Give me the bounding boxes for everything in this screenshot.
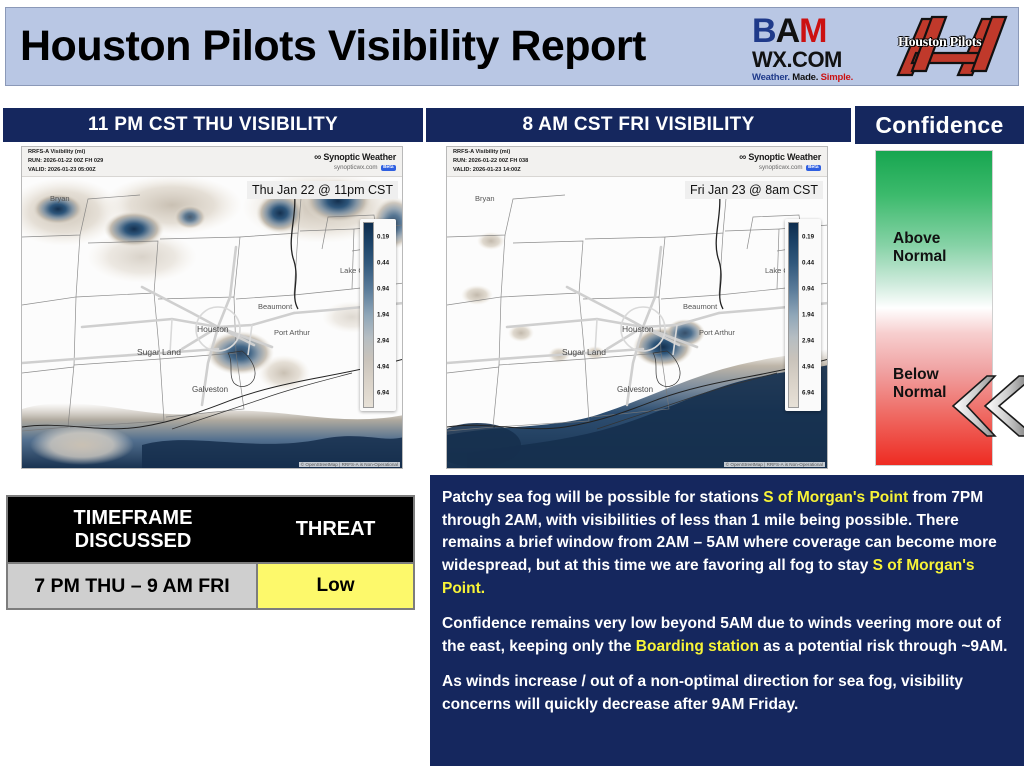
logo-group: B A M WX.COM Weather. Made. Simple.	[752, 13, 1018, 81]
cell-threat-value: Low	[258, 562, 413, 608]
map2-colorbar-gradient	[788, 222, 799, 408]
map2-time-badge: Fri Jan 23 @ 8am CST	[685, 181, 823, 199]
cbar2-tick-1: 0.44	[802, 259, 814, 266]
cbar-tick-4: 2.94	[377, 338, 389, 345]
below-normal-line1: Below	[893, 366, 946, 384]
map2-metadata: RRFS-A Visibility (mi) RUN: 2026-01-22 0…	[453, 148, 528, 176]
infinity-icon: ∞	[314, 152, 321, 163]
map1-beta-badge: Beta	[381, 165, 396, 171]
timeframe-header-line2: DISCUSSED	[75, 530, 192, 552]
city-label-bryan: Bryan	[50, 194, 70, 203]
map-panel-friday[interactable]: RRFS-A Visibility (mi) RUN: 2026-01-22 0…	[446, 146, 828, 469]
report-title-bar: Houston Pilots Visibility Report B A M W…	[5, 7, 1019, 86]
cbar-tick-2: 0.94	[377, 285, 389, 292]
map2-beta-badge: Beta	[806, 165, 821, 171]
double-chevron-left-icon	[951, 374, 1024, 438]
map1-metadata: RRFS-A Visibility (mi) RUN: 2026-01-22 0…	[28, 148, 103, 176]
map-panel-thursday[interactable]: RRFS-A Visibility (mi) RUN: 2026-01-22 0…	[21, 146, 403, 469]
timeframe-threat-table: TIMEFRAME DISCUSSED THREAT 7 PM THU – 9 …	[6, 495, 415, 610]
map1-header: RRFS-A Visibility (mi) RUN: 2026-01-22 0…	[22, 147, 402, 177]
confidence-indicator-arrow	[951, 374, 1024, 438]
houston-pilots-logo: Houston Pilots	[892, 13, 1010, 81]
bamwx-letter-a: A	[776, 14, 800, 48]
bamwx-tagline: Weather. Made. Simple.	[752, 73, 886, 83]
map1-run: RUN: 2026-01-22 00Z FH 029	[28, 157, 103, 166]
city-label-galveston: Galveston	[192, 385, 228, 394]
city-label-beaumont: Beaumont	[258, 302, 293, 311]
map1-provider-name: ∞ Synoptic Weather	[314, 152, 396, 163]
city-label-galveston: Galveston	[617, 385, 653, 394]
confidence-panel: Above Normal Below Normal	[855, 146, 1024, 471]
forecast-discussion-panel: Patchy sea fog will be possible for stat…	[430, 475, 1024, 766]
map1-canvas[interactable]: Bryan Houston Sugar Land Galveston Beaum…	[22, 177, 402, 469]
city-label-port-arthur: Port Arthur	[274, 328, 310, 337]
map2-graphic: Bryan Houston Sugar Land Galveston Beaum…	[447, 177, 827, 469]
cbar2-tick-5: 4.94	[802, 364, 814, 371]
houston-pilots-text: Houston Pilots	[898, 35, 981, 51]
cbar2-tick-0: 0.19	[802, 233, 814, 240]
p1-text-a: Patchy sea fog will be possible for stat…	[442, 489, 763, 506]
map2-attribution: © OpenStreetMap | RRFS-A is Non-Operatio…	[724, 462, 825, 467]
page-title: Houston Pilots Visibility Report	[20, 22, 646, 71]
map2-colorbar: 0.19 0.44 0.94 1.94 2.94 4.94 6.94	[785, 219, 821, 411]
map1-provider-link[interactable]: synopticwx.com	[334, 164, 378, 171]
cbar-tick-1: 0.44	[377, 259, 389, 266]
visibility-report-page: Houston Pilots Visibility Report B A M W…	[0, 0, 1024, 766]
cbar-tick-0: 0.19	[377, 233, 389, 240]
bamwx-domain: WX.COM	[752, 49, 886, 71]
cbar2-tick-2: 0.94	[802, 285, 814, 292]
band-thu-visibility: 11 PM CST THU VISIBILITY	[3, 108, 423, 142]
map1-colorbar-gradient	[363, 222, 374, 408]
map2-valid: VALID: 2026-01-23 14:00Z	[453, 166, 528, 175]
cbar-tick-3: 1.94	[377, 312, 389, 319]
city-label-beaumont: Beaumont	[683, 302, 718, 311]
map1-provider-label: Synoptic Weather	[323, 152, 396, 162]
column-header-timeframe: TIMEFRAME DISCUSSED	[8, 497, 258, 562]
infinity-icon: ∞	[739, 152, 746, 163]
map1-product: RRFS-A Visibility (mi)	[28, 148, 103, 157]
bamwx-wordmark: B A M	[752, 14, 886, 48]
bamwx-logo: B A M WX.COM Weather. Made. Simple.	[752, 14, 886, 80]
city-label-sugar-land: Sugar Land	[137, 347, 181, 357]
cbar2-tick-6: 6.94	[802, 390, 814, 397]
discussion-paragraph-3: As winds increase / out of a non-optimal…	[442, 671, 1010, 716]
tagline-made: Made.	[792, 72, 818, 83]
city-label-bryan: Bryan	[475, 194, 495, 203]
bamwx-letter-b: B	[752, 14, 776, 48]
p1-highlight-1: S of Morgan's Point	[763, 489, 908, 506]
discussion-paragraph-1: Patchy sea fog will be possible for stat…	[442, 487, 1010, 600]
band-confidence: Confidence	[855, 106, 1024, 144]
p2-text-b: as a potential risk through ~9AM.	[759, 638, 1007, 655]
cbar-tick-6: 6.94	[377, 390, 389, 397]
city-label-port-arthur: Port Arthur	[699, 328, 735, 337]
map1-colorbar-ticks: 0.19 0.44 0.94 1.94 2.94 4.94 6.94	[374, 222, 393, 408]
map1-time-badge: Thu Jan 22 @ 11pm CST	[247, 181, 398, 199]
table-header-row: TIMEFRAME DISCUSSED THREAT	[8, 497, 413, 562]
map2-canvas[interactable]: Bryan Houston Sugar Land Galveston Beaum…	[447, 177, 827, 469]
map2-provider-label: Synoptic Weather	[748, 152, 821, 162]
map1-provider-block: ∞ Synoptic Weather synopticwx.com Beta	[314, 152, 396, 171]
above-normal-line2: Normal	[893, 248, 946, 266]
confidence-label-above-normal: Above Normal	[893, 230, 946, 267]
map1-colorbar: 0.19 0.44 0.94 1.94 2.94 4.94 6.94	[360, 219, 396, 411]
confidence-label-below-normal: Below Normal	[893, 366, 946, 403]
map2-provider-name: ∞ Synoptic Weather	[739, 152, 821, 163]
above-normal-line1: Above	[893, 230, 946, 248]
map2-provider-link[interactable]: synopticwx.com	[759, 164, 803, 171]
table-row: 7 PM THU – 9 AM FRI Low	[8, 562, 413, 608]
cbar2-tick-4: 2.94	[802, 338, 814, 345]
map1-graphic: Bryan Houston Sugar Land Galveston Beaum…	[22, 177, 402, 469]
cell-timeframe-value: 7 PM THU – 9 AM FRI	[8, 562, 258, 608]
column-header-threat: THREAT	[258, 497, 413, 562]
bamwx-letter-m: M	[799, 14, 826, 48]
p2-highlight: Boarding station	[636, 638, 759, 655]
map1-provider-link-row: synopticwx.com Beta	[314, 164, 396, 171]
map2-header: RRFS-A Visibility (mi) RUN: 2026-01-22 0…	[447, 147, 827, 177]
cbar-tick-5: 4.94	[377, 364, 389, 371]
map2-provider-link-row: synopticwx.com Beta	[739, 164, 821, 171]
city-label-sugar-land: Sugar Land	[562, 347, 606, 357]
map1-attribution: © OpenStreetMap | RRFS-A is Non-Operatio…	[299, 462, 400, 467]
map2-run: RUN: 2026-01-22 00Z FH 038	[453, 157, 528, 166]
timeframe-header-line1: TIMEFRAME	[74, 507, 193, 529]
tagline-simple: Simple.	[821, 72, 853, 83]
map2-provider-block: ∞ Synoptic Weather synopticwx.com Beta	[739, 152, 821, 171]
cbar2-tick-3: 1.94	[802, 312, 814, 319]
band-fri-visibility: 8 AM CST FRI VISIBILITY	[426, 108, 851, 142]
tagline-weather: Weather.	[752, 72, 790, 83]
discussion-paragraph-2: Confidence remains very low beyond 5AM d…	[442, 613, 1010, 658]
map2-product: RRFS-A Visibility (mi)	[453, 148, 528, 157]
map2-colorbar-ticks: 0.19 0.44 0.94 1.94 2.94 4.94 6.94	[799, 222, 818, 408]
below-normal-line2: Normal	[893, 384, 946, 402]
city-label-houston: Houston	[622, 324, 654, 334]
map1-valid: VALID: 2026-01-23 05:00Z	[28, 166, 103, 175]
city-label-houston: Houston	[197, 324, 229, 334]
